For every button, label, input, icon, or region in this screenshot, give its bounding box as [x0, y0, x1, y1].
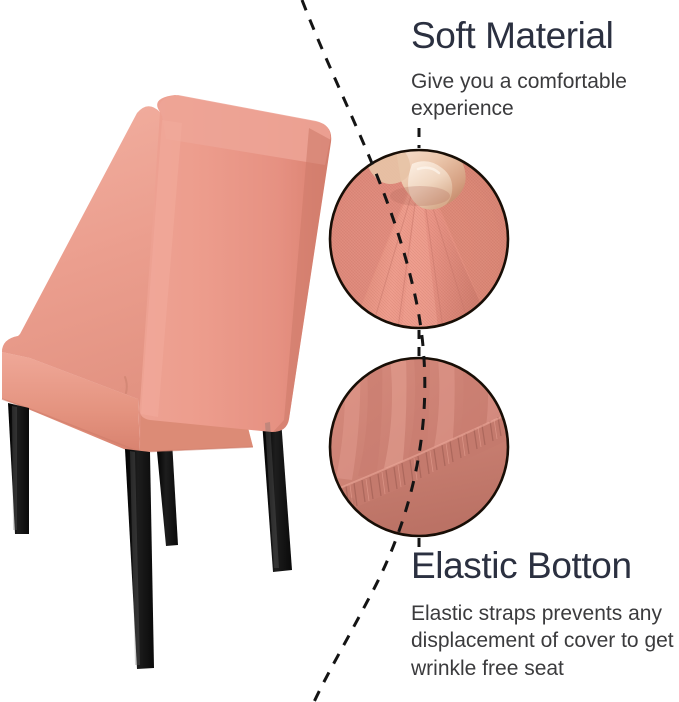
elastic-botton-description: Elastic straps prevents any displacement…: [411, 600, 677, 682]
soft-material-heading: Soft Material: [411, 16, 673, 56]
elastic-botton-heading: Elastic Botton: [411, 546, 677, 586]
soft-material-description: Give you a comfortable experience: [411, 68, 673, 123]
dashed-guide-arc: [302, 0, 425, 702]
product-feature-infographic: Soft Material Give you a comfortable exp…: [0, 0, 679, 702]
feature-block-soft-material: Soft Material Give you a comfortable exp…: [411, 16, 673, 123]
feature-block-elastic-botton: Elastic Botton Elastic straps prevents a…: [411, 546, 677, 682]
